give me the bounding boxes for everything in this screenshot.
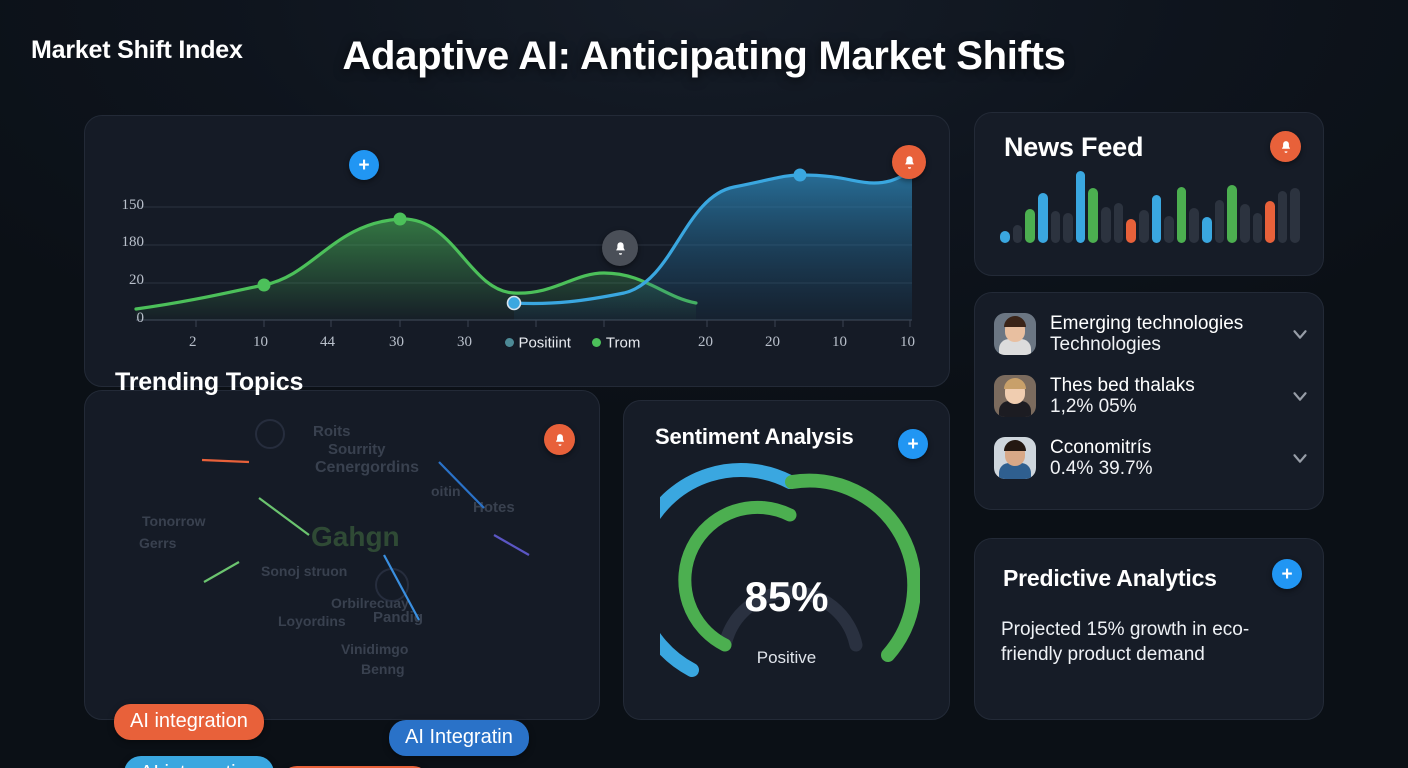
news-activity-bar (1051, 211, 1061, 243)
chart-card-title: Market Shift Index (31, 36, 243, 65)
news-item-subtitle: 0.4% 39.7% (1050, 458, 1289, 479)
news-activity-bar (1265, 201, 1275, 243)
chevron-down-icon[interactable] (1289, 385, 1311, 407)
news-activity-bar (1013, 225, 1023, 243)
chart-point-marker (794, 169, 807, 182)
trending-topics-title: Trending Topics (115, 368, 303, 397)
news-activity-bars (1000, 168, 1300, 243)
topic-tag[interactable]: AI integration (114, 704, 264, 740)
chart-point-marker (258, 279, 271, 292)
legend-label-trend: Trom (606, 334, 640, 351)
bell-icon (613, 241, 628, 256)
dashboard-root: Adaptive AI: Anticipating Market Shifts (0, 0, 1408, 768)
news-activity-bar (1177, 187, 1187, 243)
ghost-word: Gerrs (139, 535, 176, 551)
x-tick-label: 44 (320, 334, 335, 351)
news-list-item[interactable]: Thes bed thalaks1,2% 05% (975, 365, 1325, 427)
news-activity-bar (1038, 193, 1048, 243)
chevron-down-icon[interactable] (1289, 323, 1311, 345)
news-item-text: Emerging technologiesTechnologies (1050, 313, 1289, 356)
x-tick-label: 10 (253, 334, 268, 351)
y-tick-label: 150 (104, 197, 144, 214)
news-activity-bar (1290, 188, 1300, 243)
y-tick-label: 180 (104, 234, 144, 251)
ghost-word: Loyordins (278, 613, 346, 629)
bell-icon (1279, 140, 1293, 154)
news-activity-bar (1063, 213, 1073, 243)
news-list-item[interactable]: Cconomitrís0.4% 39.7% (975, 427, 1325, 489)
news-list-card: Emerging technologiesTechnologiesThes be… (974, 292, 1324, 510)
news-activity-bar (1189, 208, 1199, 243)
topics-alert-bell-icon[interactable] (544, 424, 575, 455)
chart-alert-marker-icon[interactable] (602, 230, 638, 266)
news-activity-bar (1215, 200, 1225, 243)
decorative-circle-icon (255, 419, 285, 449)
chart-legend: Positiint Trom (505, 334, 640, 352)
ghost-word: Tonorrow (142, 513, 206, 529)
news-item-title: Cconomitrís (1050, 437, 1289, 458)
x-tick-label: 10 (832, 334, 847, 351)
x-tick-label: 20 (765, 334, 780, 351)
predictive-add-button[interactable]: + (1272, 559, 1302, 589)
sentiment-label: Positive (623, 648, 950, 668)
ghost-word: oitin (431, 483, 461, 499)
news-item-title: Emerging technologies (1050, 313, 1289, 334)
predictive-body-text: Projected 15% growth in eco-friendly pro… (1001, 617, 1301, 668)
news-activity-bar (1126, 219, 1136, 243)
news-item-subtitle: 1,2% 05% (1050, 396, 1289, 417)
news-activity-bar (1202, 217, 1212, 243)
news-activity-bar (1088, 188, 1098, 243)
news-activity-bar (1101, 207, 1111, 243)
news-activity-bar (1000, 231, 1010, 243)
news-activity-bar (1278, 191, 1288, 243)
ghost-word: Gahgn (311, 521, 400, 553)
x-tick-label: 2 (189, 334, 197, 351)
chart-x-ticks (196, 320, 910, 327)
ghost-word: Benng (361, 661, 405, 677)
topic-tag[interactable]: AI Integratin (389, 720, 529, 756)
legend-swatch-trend (592, 338, 601, 347)
chart-point-marker (394, 213, 407, 226)
x-tick-label: 20 (698, 334, 713, 351)
news-item-text: Cconomitrís0.4% 39.7% (1050, 437, 1289, 480)
chart-point-marker (508, 297, 521, 310)
news-item-title: Thes bed thalaks (1050, 375, 1289, 396)
news-activity-bar (1025, 209, 1035, 243)
news-activity-bar (1139, 210, 1149, 243)
news-activity-bar (1253, 213, 1263, 243)
x-tick-label: 30 (389, 334, 404, 351)
bell-icon (553, 433, 567, 447)
news-item-subtitle: Technologies (1050, 334, 1289, 355)
topic-tag[interactable]: AI integration (124, 756, 274, 768)
news-activity-bar (1152, 195, 1162, 243)
ghost-word: Vinidimgo (341, 641, 408, 657)
ghost-word: Roits (313, 423, 351, 440)
news-list-item[interactable]: Emerging technologiesTechnologies (975, 303, 1325, 365)
predictive-card-title: Predictive Analytics (1003, 565, 1217, 592)
news-activity-bar (1164, 216, 1174, 243)
ghost-word: Cenergordins (315, 459, 419, 477)
y-tick-label: 20 (104, 272, 144, 289)
ghost-word: Sonoj struon (261, 563, 347, 579)
sentiment-value: 85% (623, 573, 950, 621)
news-activity-bar (1240, 204, 1250, 243)
news-item-text: Thes bed thalaks1,2% 05% (1050, 375, 1289, 418)
trending-topics-card: RoitsSourrityCenergordinsHotesoitinTonor… (84, 390, 600, 720)
news-activity-bar (1114, 203, 1124, 243)
decorative-circle-icon (375, 568, 409, 602)
news-activity-bar (1076, 171, 1086, 243)
ghost-word: Hotes (473, 499, 515, 516)
avatar (994, 313, 1036, 355)
y-tick-label: 0 (104, 310, 144, 327)
chevron-down-icon[interactable] (1289, 447, 1311, 469)
legend-label-positive: Positiint (518, 334, 571, 351)
news-activity-bar (1227, 185, 1237, 243)
sentiment-card-title: Sentiment Analysis (655, 424, 854, 450)
avatar (994, 375, 1036, 417)
ghost-word: Sourrity (328, 441, 386, 458)
bell-icon (902, 155, 917, 170)
legend-swatch-positive (505, 338, 514, 347)
avatar (994, 437, 1036, 479)
x-tick-label: 10 (900, 334, 915, 351)
x-tick-label: 30 (457, 334, 472, 351)
ghost-word: Pandig (373, 609, 423, 626)
news-feed-title: News Feed (1004, 132, 1143, 163)
add-widget-button[interactable]: + (349, 150, 379, 180)
alert-bell-icon[interactable] (892, 145, 926, 179)
news-alert-bell-icon[interactable] (1270, 131, 1301, 162)
